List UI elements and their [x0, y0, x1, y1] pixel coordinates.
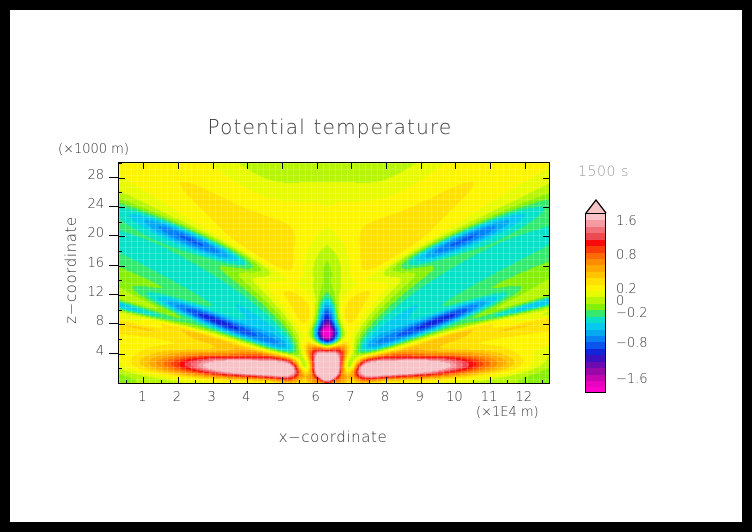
y-tick-outer	[109, 177, 118, 178]
y-minor-tick	[119, 251, 122, 252]
y-minor-tick	[119, 192, 122, 193]
y-tick	[119, 178, 125, 179]
x-tick	[525, 163, 526, 169]
y-tick	[543, 354, 549, 355]
x-tick	[247, 377, 248, 383]
x-tick-label: 6	[301, 390, 331, 405]
x-tick-label: 5	[266, 390, 296, 405]
time-stamp-label: 1500 s	[578, 164, 629, 180]
y-minor-tick	[119, 339, 122, 340]
page-title: Potential temperature	[10, 115, 650, 139]
y-tick-label: 20	[70, 226, 104, 241]
y-minor-tick	[119, 222, 122, 223]
x-tick-label: 4	[231, 390, 261, 405]
colorbar-cap-arrow	[585, 200, 607, 213]
y-tick-outer	[109, 323, 118, 324]
x-tick	[282, 163, 283, 169]
y-tick-label: 16	[70, 256, 104, 271]
x-tick	[421, 377, 422, 383]
x-tick	[386, 163, 387, 169]
colorbar-segment	[586, 387, 605, 393]
x-minor-tick	[299, 380, 300, 383]
y-tick-label: 12	[70, 285, 104, 300]
y-tick	[543, 236, 549, 237]
y-tick	[543, 178, 549, 179]
x-tick	[421, 163, 422, 169]
x-tick	[178, 163, 179, 169]
y-tick	[543, 207, 549, 208]
x-minor-tick	[161, 380, 162, 383]
colorbar-label: 0.8	[616, 248, 637, 263]
x-minor-tick	[195, 380, 196, 383]
x-minor-tick	[334, 380, 335, 383]
x-tick-label: 8	[370, 390, 400, 405]
y-minor-tick	[119, 310, 122, 311]
x-axis-unit-label: (×1E4 m)	[476, 405, 539, 420]
x-minor-tick	[265, 380, 266, 383]
y-tick-label: 4	[70, 344, 104, 359]
y-tick	[119, 207, 125, 208]
x-tick-label: 3	[197, 390, 227, 405]
x-tick-label: 7	[335, 390, 365, 405]
colorbar-label: 1.6	[616, 214, 637, 229]
contour-plot-area	[118, 162, 550, 384]
y-tick-outer	[109, 353, 118, 354]
y-tick	[543, 295, 549, 296]
x-tick	[247, 163, 248, 169]
y-tick-label: 8	[70, 314, 104, 329]
x-tick-label: 12	[509, 390, 539, 405]
y-axis-unit-label: (×1000 m)	[58, 142, 129, 157]
x-tick	[490, 163, 491, 169]
x-minor-tick	[438, 380, 439, 383]
x-tick-label: 10	[439, 390, 469, 405]
x-tick	[143, 377, 144, 383]
x-minor-tick	[126, 380, 127, 383]
heatmap-field	[119, 163, 549, 383]
y-minor-tick	[119, 163, 122, 164]
x-minor-tick	[473, 380, 474, 383]
y-tick-outer	[109, 265, 118, 266]
x-minor-tick	[507, 380, 508, 383]
x-tick-label: 9	[405, 390, 435, 405]
x-axis-title: x−coordinate	[118, 428, 548, 446]
x-tick	[351, 377, 352, 383]
y-tick	[119, 324, 125, 325]
colorbar-label: −0.2	[616, 306, 648, 321]
y-tick	[119, 295, 125, 296]
y-tick-outer	[109, 294, 118, 295]
x-tick	[178, 377, 179, 383]
y-tick	[543, 324, 549, 325]
y-minor-tick	[119, 368, 122, 369]
x-minor-tick	[369, 380, 370, 383]
x-tick	[490, 377, 491, 383]
x-minor-tick	[403, 380, 404, 383]
x-tick-label: 2	[162, 390, 192, 405]
x-tick	[317, 163, 318, 169]
y-tick-label: 24	[70, 197, 104, 212]
y-tick-label: 28	[70, 168, 104, 183]
colorbar-legend: 1500 s 1.60.80.20−0.2−0.8−1.6	[580, 162, 700, 402]
y-tick	[119, 354, 125, 355]
y-tick-outer	[109, 206, 118, 207]
colorbar-label: −1.6	[616, 372, 648, 387]
x-tick	[455, 163, 456, 169]
x-tick	[213, 377, 214, 383]
colorbar-label: −0.8	[616, 336, 648, 351]
x-minor-tick	[542, 380, 543, 383]
x-tick	[143, 163, 144, 169]
y-tick	[543, 266, 549, 267]
y-tick	[119, 266, 125, 267]
x-tick	[282, 377, 283, 383]
colorbar-gradient	[585, 213, 606, 393]
x-minor-tick	[230, 380, 231, 383]
figure-page: Potential temperature (×1000 m) z−coordi…	[10, 10, 742, 522]
x-tick	[317, 377, 318, 383]
x-tick	[386, 377, 387, 383]
y-minor-tick	[119, 280, 122, 281]
x-tick-label: 1	[127, 390, 157, 405]
x-tick	[455, 377, 456, 383]
y-tick-outer	[109, 235, 118, 236]
x-tick	[213, 163, 214, 169]
x-tick	[525, 377, 526, 383]
x-tick-label: 11	[474, 390, 504, 405]
y-tick	[119, 236, 125, 237]
x-tick	[351, 163, 352, 169]
